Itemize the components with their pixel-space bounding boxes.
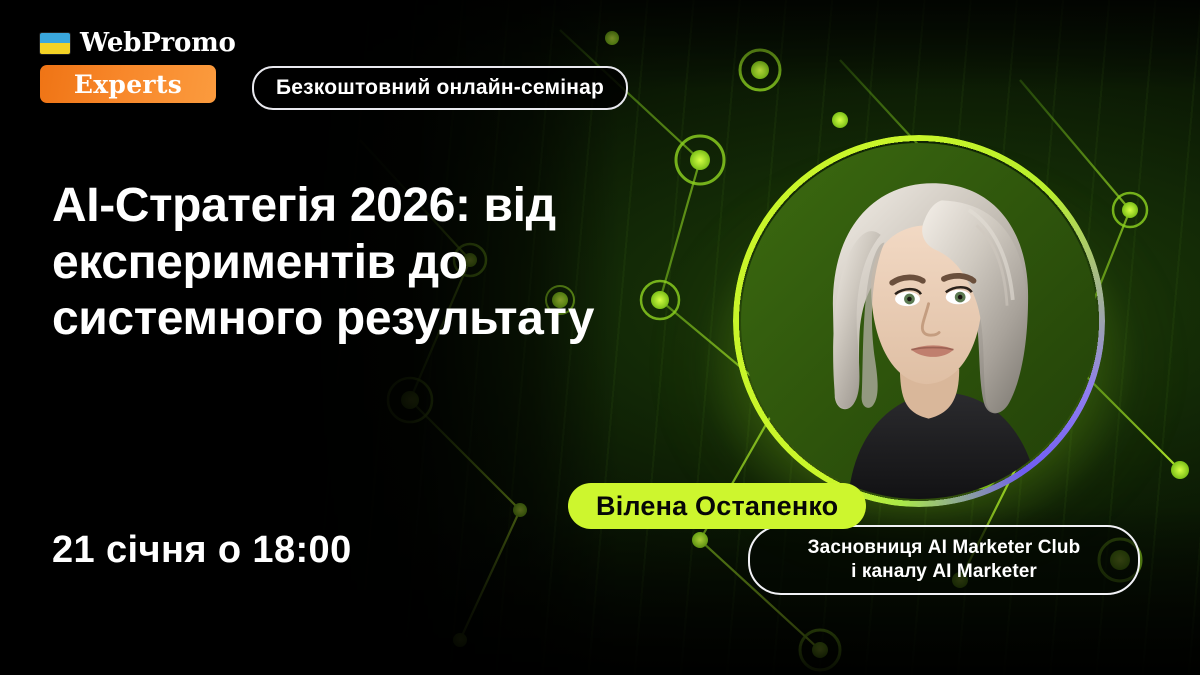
speaker-role-line-1: Засновниця AI Marketer Club <box>808 537 1081 559</box>
brand-badge-label: Experts <box>74 70 182 99</box>
ukraine-flag-icon <box>40 33 70 54</box>
event-type-label: Безкоштовний онлайн-семінар <box>276 76 604 100</box>
brand-logo-row: WebPromo <box>40 28 226 58</box>
brand-badge: Experts <box>40 65 216 103</box>
speaker-name-badge: Вілена Остапенко <box>568 483 866 529</box>
event-datetime: 21 січня о 18:00 <box>52 529 352 572</box>
event-type-badge: Безкоштовний онлайн-семінар <box>252 66 628 110</box>
webinar-promo-banner: WebPromo Experts Безкоштовний онлайн-сем… <box>0 0 1200 675</box>
speaker-portrait <box>733 135 1105 507</box>
brand-name: WebPromo <box>80 30 236 56</box>
speaker-role-box: Засновниця AI Marketer Club і каналу AI … <box>748 525 1140 595</box>
portrait-ring <box>733 135 1105 507</box>
page-title: AI-Стратегія 2026: від експериментів до … <box>52 178 692 348</box>
speaker-name: Вілена Остапенко <box>596 491 838 522</box>
speaker-role-line-2: і каналу AI Marketer <box>851 561 1037 583</box>
brand-logo[interactable]: WebPromo Experts <box>40 28 226 103</box>
